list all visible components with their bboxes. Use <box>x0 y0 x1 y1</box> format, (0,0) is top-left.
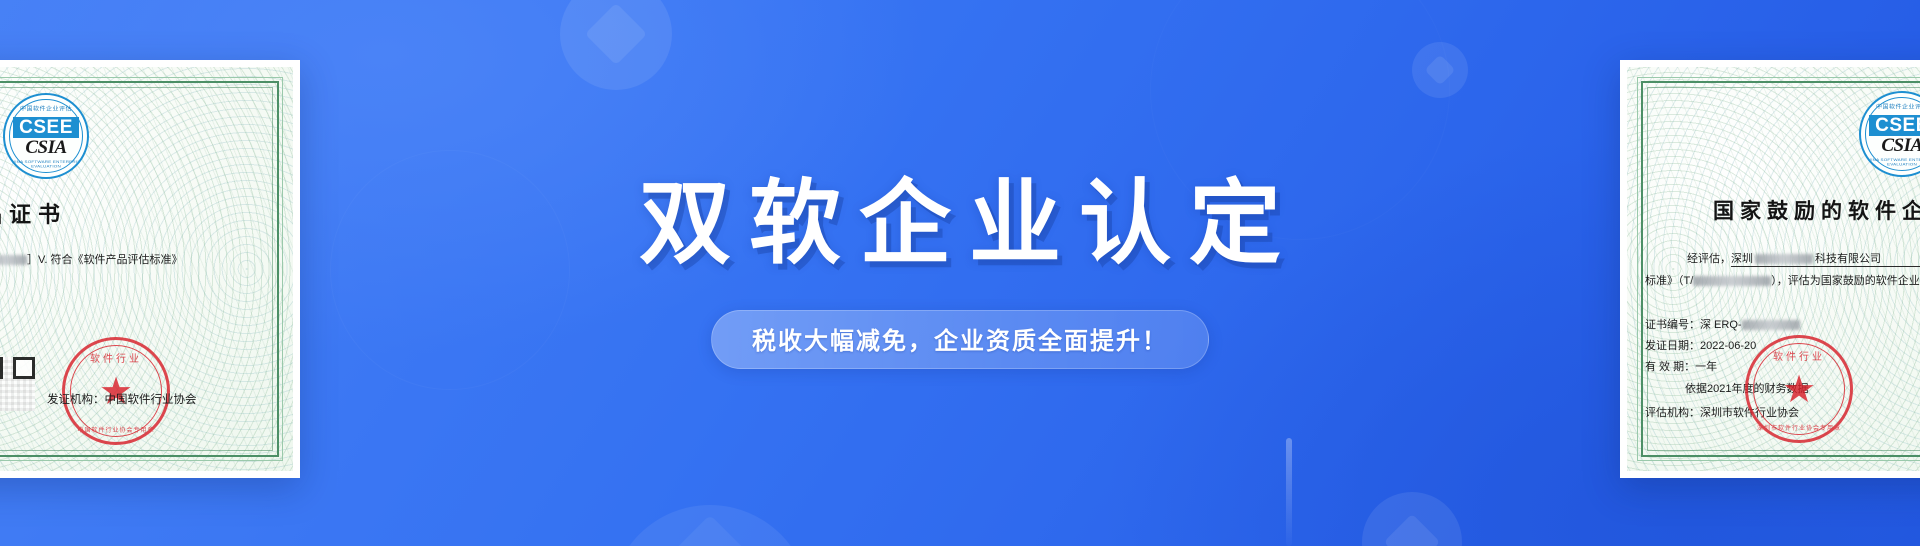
page-title: 双软企业认定 <box>621 178 1299 270</box>
promo-badge: 税收大幅减免，企业资质全面提升！ <box>711 310 1209 369</box>
banner-center-content: 双软企业认定 税收大幅减免，企业资质全面提升！ <box>0 0 1920 546</box>
promo-banner: 中国软件企业评估 CSEE CSIA CHINA SOFTWARE ENTERP… <box>0 0 1920 546</box>
